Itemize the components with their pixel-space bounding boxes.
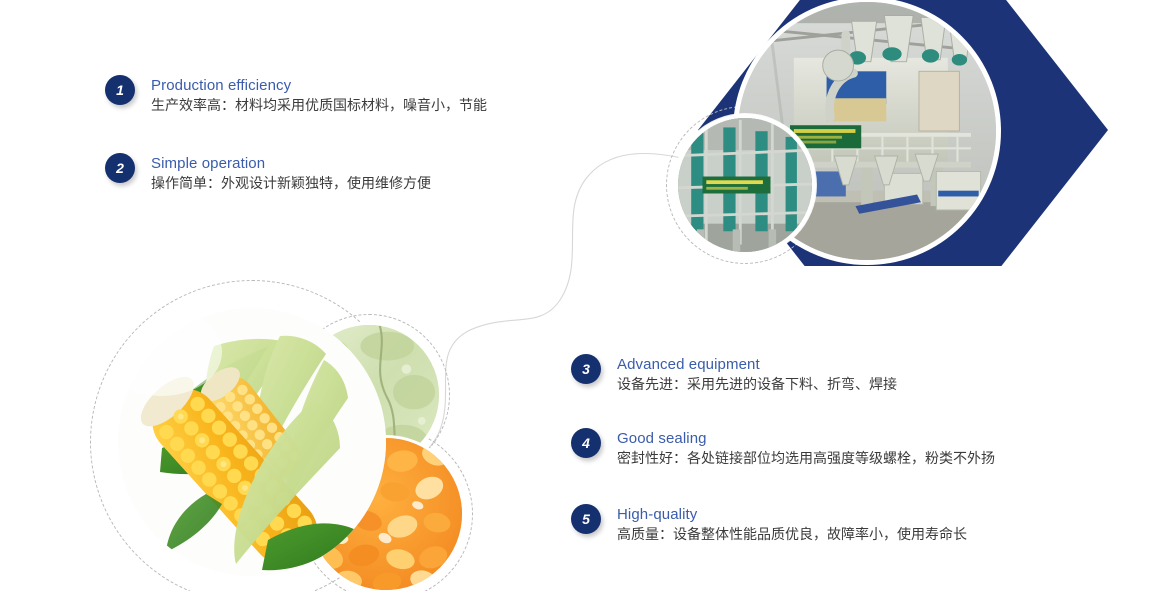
machinery-secondary-photo <box>674 114 816 256</box>
feature-text-2: Simple operation 操作简单：外观设计新颖独特，使用维修方便 <box>151 153 431 195</box>
feature-item-1[interactable]: 1 Production efficiency 生产效率高：材料均采用优质国标材… <box>105 75 487 117</box>
feature-title-3: Advanced equipment <box>617 355 897 374</box>
feature-title-4: Good sealing <box>617 429 995 448</box>
feature-desc-2: 操作简单：外观设计新颖独特，使用维修方便 <box>151 174 431 195</box>
feature-desc-5: 高质量：设备整体性能品质优良，故障率小，使用寿命长 <box>617 525 967 546</box>
product-advantages-infographic: 1 Production efficiency 生产效率高：材料均采用优质国标材… <box>0 0 1154 591</box>
feature-text-1: Production efficiency 生产效率高：材料均采用优质国标材料，… <box>151 75 487 117</box>
feature-badge-5: 5 <box>571 504 601 534</box>
feature-desc-4: 密封性好：各处链接部位均选用高强度等级螺栓，粉类不外扬 <box>617 449 995 470</box>
feature-item-4[interactable]: 4 Good sealing 密封性好：各处链接部位均选用高强度等级螺栓，粉类不… <box>571 428 995 470</box>
feature-text-5: High-quality 高质量：设备整体性能品质优良，故障率小，使用寿命长 <box>617 504 967 546</box>
feature-text-4: Good sealing 密封性好：各处链接部位均选用高强度等级螺栓，粉类不外扬 <box>617 428 995 470</box>
feature-desc-1: 生产效率高：材料均采用优质国标材料，噪音小，节能 <box>151 96 487 117</box>
corn-cob-photo <box>118 308 386 576</box>
feature-item-5[interactable]: 5 High-quality 高质量：设备整体性能品质优良，故障率小，使用寿命长 <box>571 504 967 546</box>
feature-text-3: Advanced equipment 设备先进：采用先进的设备下料、折弯、焊接 <box>617 354 897 396</box>
machinery-image-cluster <box>660 0 1120 274</box>
feature-badge-3: 3 <box>571 354 601 384</box>
feature-item-3[interactable]: 3 Advanced equipment 设备先进：采用先进的设备下料、折弯、焊… <box>571 354 897 396</box>
feature-badge-2: 2 <box>105 153 135 183</box>
feature-badge-1: 1 <box>105 75 135 105</box>
feature-item-2[interactable]: 2 Simple operation 操作简单：外观设计新颖独特，使用维修方便 <box>105 153 431 195</box>
feature-badge-4: 4 <box>571 428 601 458</box>
feature-desc-3: 设备先进：采用先进的设备下料、折弯、焊接 <box>617 375 897 396</box>
feature-title-1: Production efficiency <box>151 76 487 95</box>
corn-image-cluster <box>88 278 478 591</box>
feature-title-2: Simple operation <box>151 154 431 173</box>
feature-title-5: High-quality <box>617 505 967 524</box>
